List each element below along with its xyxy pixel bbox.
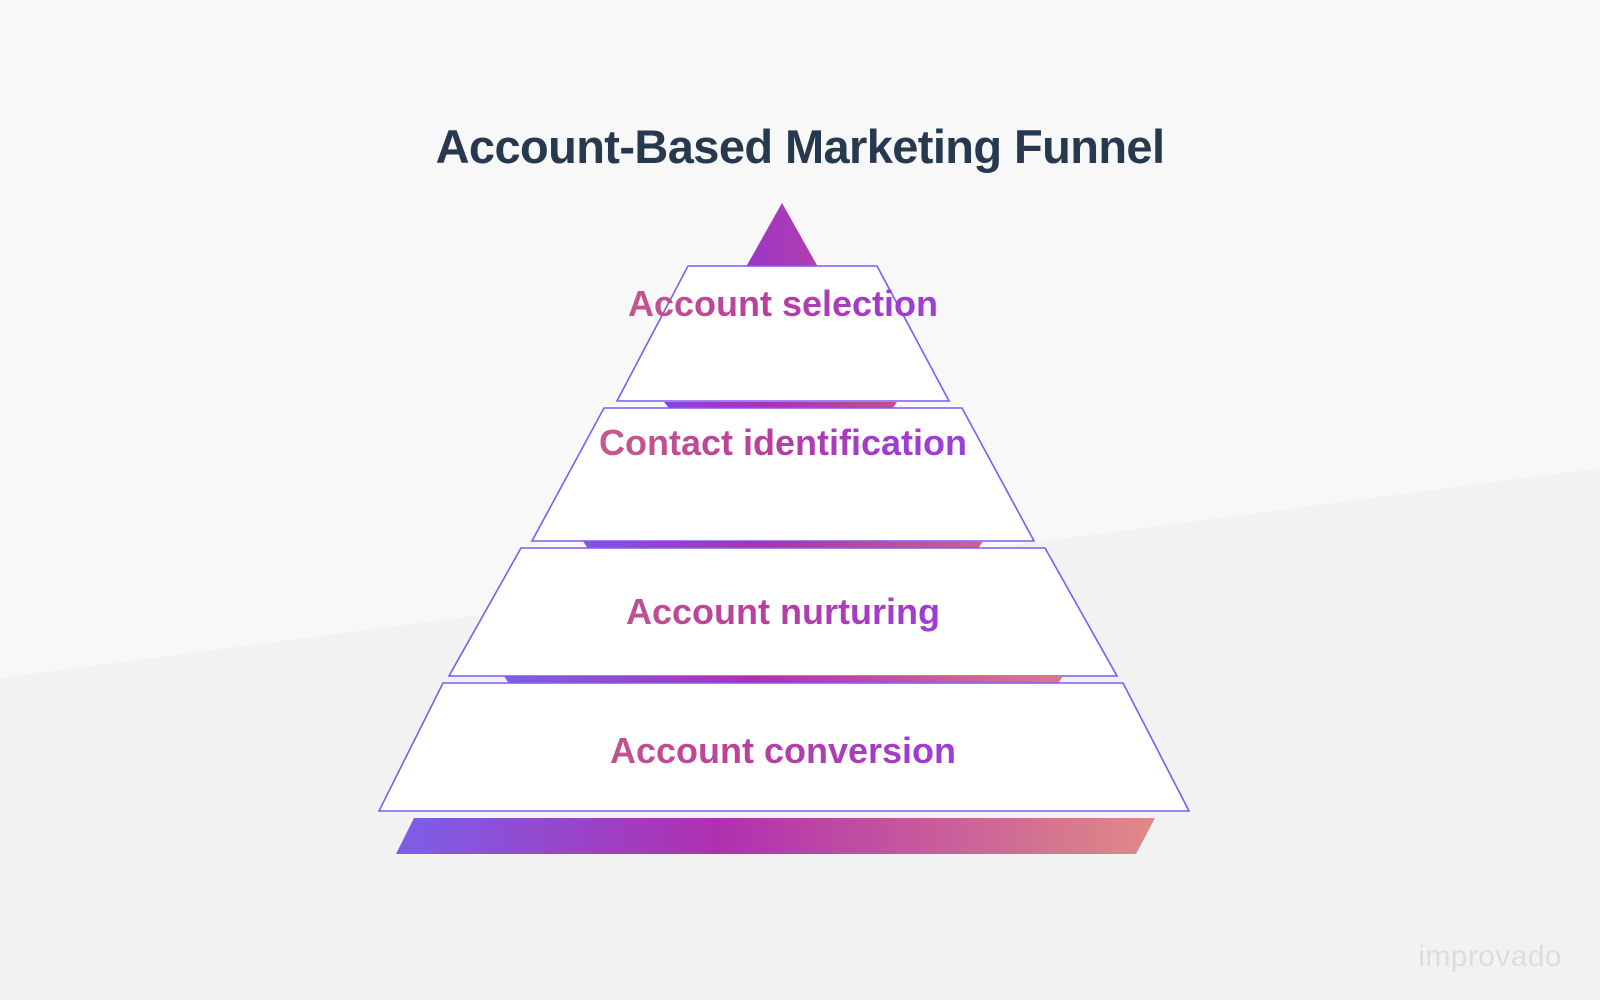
funnel-base-band <box>396 818 1155 854</box>
improvado-wordmark: improvado <box>1418 940 1562 974</box>
funnel-tier-1-shape[interactable] <box>617 266 949 401</box>
pyramid-apex-triangle <box>746 203 818 267</box>
page-title: Account-Based Marketing Funnel <box>0 119 1600 174</box>
funnel-tier-2-shape[interactable] <box>532 408 1034 541</box>
funnel-tier-4-shape[interactable] <box>379 683 1189 811</box>
funnel-tier-3-shape[interactable] <box>449 548 1117 676</box>
infographic-canvas: Account-Based Marketing Funnel Account s… <box>0 0 1600 1000</box>
